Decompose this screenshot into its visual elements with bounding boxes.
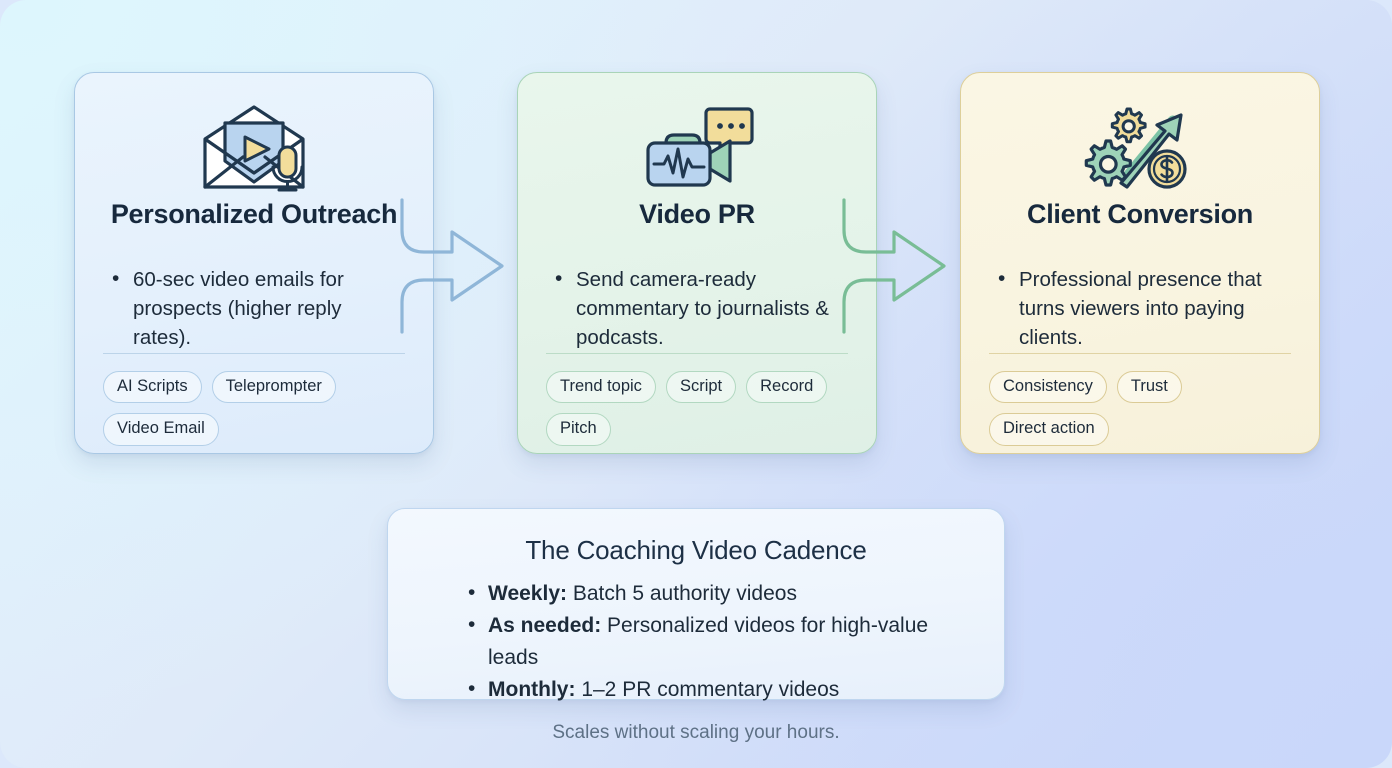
cadence-item-label: Weekly: bbox=[488, 582, 567, 605]
card-chips: AI Scripts Teleprompter Video Email bbox=[103, 354, 405, 446]
list-item: 60-sec video emails for prospects (highe… bbox=[107, 265, 403, 352]
chip-teleprompter[interactable]: Teleprompter bbox=[212, 371, 336, 403]
card-video-pr[interactable]: Video PR Send camera-ready commentary to… bbox=[517, 72, 877, 454]
card-title: Client Conversion bbox=[989, 199, 1291, 245]
flow-cards-row: Personalized Outreach 60-sec video email… bbox=[74, 72, 1320, 454]
card-chips-wrap: Trend topic Script Record Pitch bbox=[546, 353, 848, 446]
card-chips-wrap: Consistency Trust Direct action bbox=[989, 353, 1291, 446]
cadence-list: Weekly: Batch 5 authority videos As need… bbox=[422, 578, 970, 707]
cadence-panel[interactable]: The Coaching Video Cadence Weekly: Batch… bbox=[387, 508, 1005, 700]
list-item: Send camera-ready commentary to journali… bbox=[550, 265, 846, 352]
cadence-item-label: As needed: bbox=[488, 614, 601, 637]
gears-growth-arrow-coin-icon bbox=[989, 99, 1291, 195]
card-client-conversion[interactable]: Client Conversion Professional presence … bbox=[960, 72, 1320, 454]
chip-pitch[interactable]: Pitch bbox=[546, 413, 611, 445]
list-item: Weekly: Batch 5 authority videos bbox=[468, 578, 970, 610]
cadence-title: The Coaching Video Cadence bbox=[422, 535, 970, 566]
chip-trend-topic[interactable]: Trend topic bbox=[546, 371, 656, 403]
card-personalized-outreach[interactable]: Personalized Outreach 60-sec video email… bbox=[74, 72, 434, 454]
list-item: Monthly: 1–2 PR commentary videos bbox=[468, 674, 970, 706]
card-title: Video PR bbox=[546, 199, 848, 245]
card-bullet-list: Professional presence that turns viewers… bbox=[989, 245, 1291, 352]
card-title: Personalized Outreach bbox=[103, 199, 405, 245]
chip-trust[interactable]: Trust bbox=[1117, 371, 1182, 403]
card-chips: Trend topic Script Record Pitch bbox=[546, 354, 848, 446]
chip-direct-action[interactable]: Direct action bbox=[989, 413, 1109, 445]
list-item: Professional presence that turns viewers… bbox=[993, 265, 1289, 352]
chip-video-email[interactable]: Video Email bbox=[103, 413, 219, 445]
cadence-item-text: Batch 5 authority videos bbox=[567, 582, 797, 605]
card-bullet-list: 60-sec video emails for prospects (highe… bbox=[103, 245, 405, 352]
footer-note: Scales without scaling your hours. bbox=[0, 722, 1392, 744]
envelope-video-mic-icon bbox=[103, 99, 405, 195]
chip-ai-scripts[interactable]: AI Scripts bbox=[103, 371, 202, 403]
card-bullet-list: Send camera-ready commentary to journali… bbox=[546, 245, 848, 352]
chip-record[interactable]: Record bbox=[746, 371, 827, 403]
list-item: As needed: Personalized videos for high-… bbox=[468, 610, 970, 674]
cadence-item-text: 1–2 PR commentary videos bbox=[575, 678, 839, 701]
card-chips-wrap: AI Scripts Teleprompter Video Email bbox=[103, 353, 405, 446]
chip-consistency[interactable]: Consistency bbox=[989, 371, 1107, 403]
infographic-canvas: Personalized Outreach 60-sec video email… bbox=[0, 0, 1392, 768]
cadence-item-label: Monthly: bbox=[488, 678, 575, 701]
card-chips: Consistency Trust Direct action bbox=[989, 354, 1291, 446]
video-camera-comment-icon bbox=[546, 99, 848, 195]
chip-script[interactable]: Script bbox=[666, 371, 736, 403]
